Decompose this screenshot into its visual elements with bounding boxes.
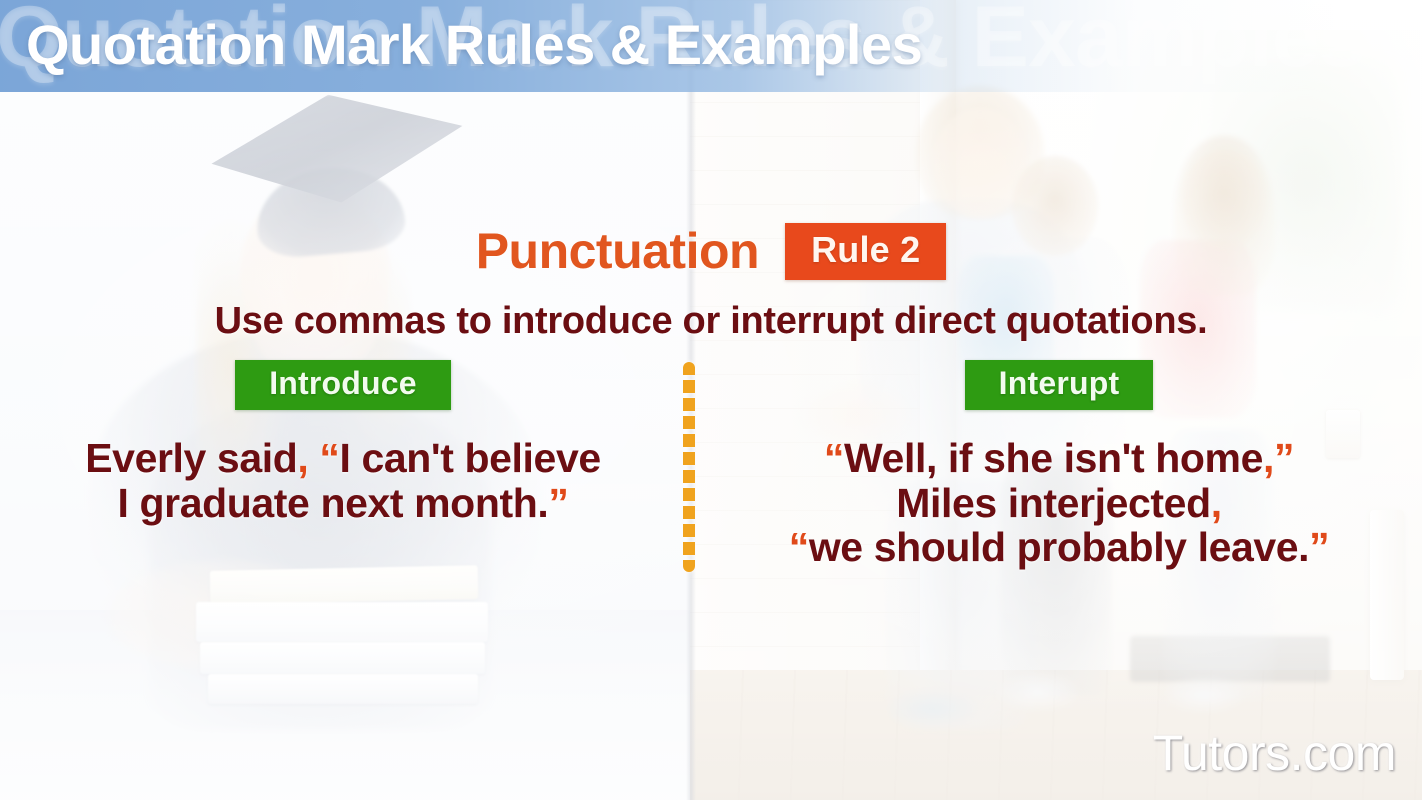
slide-canvas: Quotation Mark Rules & Examples Quotatio… xyxy=(0,0,1422,800)
introduce-example-text: Everly said, “I can't believe I graduate… xyxy=(0,436,686,525)
introduce-badge-wrap: Introduce xyxy=(0,360,686,410)
punctuation-topic-label: Punctuation xyxy=(476,222,759,280)
site-watermark: Tutors.com xyxy=(1153,724,1396,782)
introduce-example-line-2: I graduate next month.” xyxy=(0,481,686,526)
introduce-example-line-1: Everly said, “I can't believe xyxy=(0,436,686,481)
introduce-badge: Introduce xyxy=(235,360,451,410)
interrupt-comma-mark-1: , xyxy=(1263,435,1274,481)
interrupt-example-text: “Well, if she isn't home,” Miles interje… xyxy=(696,436,1422,570)
introduce-attribution: Everly said xyxy=(85,435,297,481)
introduce-quote-part-2: I graduate next month. xyxy=(118,480,549,526)
introduce-open-quote-mark: “ xyxy=(319,435,339,481)
interrupt-quote-part-1: Well, if she isn't home xyxy=(844,435,1263,481)
introduce-quote-part-1: I can't believe xyxy=(339,435,600,481)
interrupt-comma-mark-2: , xyxy=(1211,480,1222,526)
interrupt-attribution: Miles interjected xyxy=(896,480,1210,526)
interrupt-badge-wrap: Interupt xyxy=(696,360,1422,410)
interrupt-example-line-3: “we should probably leave.” xyxy=(696,525,1422,570)
rule-statement: Use commas to introduce or interrupt dir… xyxy=(0,300,1422,343)
interrupt-badge: Interupt xyxy=(965,360,1154,410)
interrupt-open-quote-mark-1: “ xyxy=(824,435,844,481)
rule-number-badge: Rule 2 xyxy=(785,223,946,280)
interrupt-close-quote-mark-1: ” xyxy=(1274,435,1294,481)
rule-heading-row: Punctuation Rule 2 xyxy=(0,222,1422,280)
interrupt-quote-part-2: we should probably leave. xyxy=(809,524,1309,570)
introduce-close-quote-mark: ” xyxy=(548,480,568,526)
interrupt-open-quote-mark-2: “ xyxy=(789,524,809,570)
interrupt-example-line-2: Miles interjected, xyxy=(696,481,1422,526)
slide-content: Punctuation Rule 2 Use commas to introdu… xyxy=(0,0,1422,800)
introduce-comma-mark: , xyxy=(297,435,308,481)
introduce-column: Introduce Everly said, “I can't believe … xyxy=(0,360,686,525)
interrupt-example-line-1: “Well, if she isn't home,” xyxy=(696,436,1422,481)
interrupt-column: Interupt “Well, if she isn't home,” Mile… xyxy=(696,360,1422,570)
interrupt-close-quote-mark-2: ” xyxy=(1309,524,1329,570)
